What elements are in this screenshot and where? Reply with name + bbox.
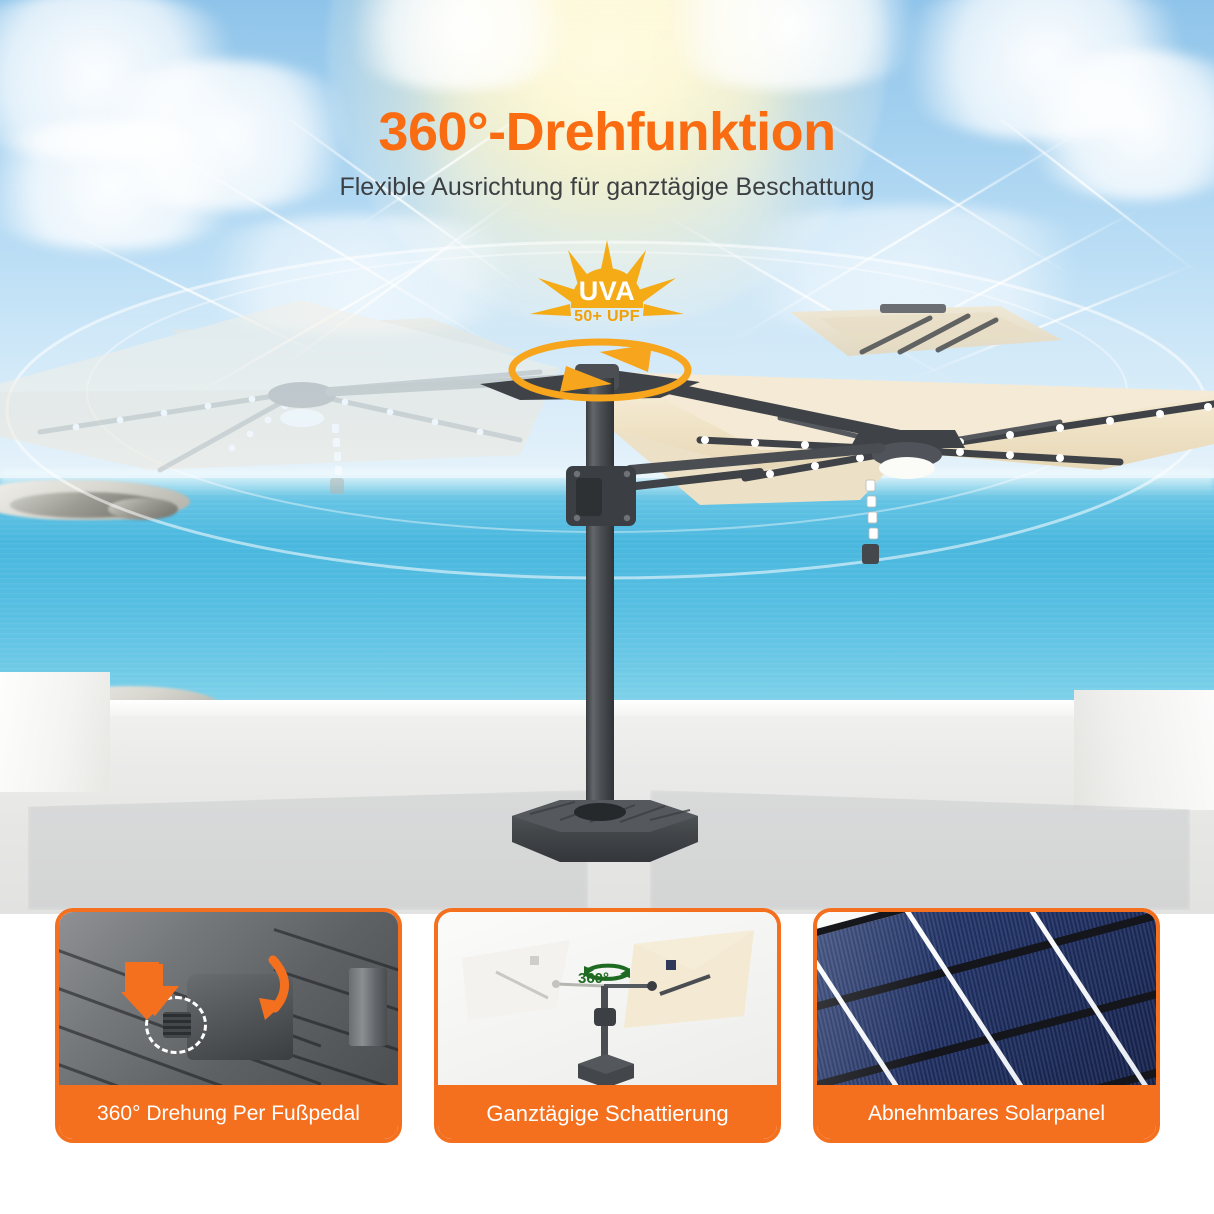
feature-cards: 360° Drehung Per Fußpedal <box>0 908 1214 1158</box>
ghost-canopy <box>462 940 570 1020</box>
card-caption-foot-pedal: 360° Drehung Per Fußpedal <box>55 1085 402 1143</box>
panel-glare <box>817 912 1156 1097</box>
uva-badge: UVA 50+ UPF <box>524 238 690 350</box>
feature-card-solar-panel[interactable]: Abnehmbares Solarpanel <box>813 908 1160 1143</box>
marketing-image: 360°-Drehfunktion Flexible Ausrichtung f… <box>0 0 1214 1214</box>
solar-panel-photo <box>817 912 1156 1097</box>
tilt-joint <box>566 466 636 526</box>
rotation-degree-badge: 360° <box>578 970 609 987</box>
rotation-topview-photo: 360° <box>438 912 777 1097</box>
upf-label: 50+ UPF <box>524 308 690 326</box>
card-caption-all-day-shade: Ganztägige Schattierung <box>434 1085 781 1143</box>
orange-arrow-down-simple <box>121 962 175 1020</box>
foot-pedal-photo <box>59 912 398 1097</box>
card-caption-solar-panel: Abnehmbares Solarpanel <box>813 1085 1160 1143</box>
page-subtitle: Flexible Ausrichtung für ganztägige Besc… <box>0 173 1214 202</box>
feature-card-all-day-shade[interactable]: 360° Ganztägige Schattierung <box>434 908 781 1143</box>
umbrella-base <box>512 800 698 862</box>
card1-annotations <box>59 912 398 1097</box>
headline-block: 360°-Drehfunktion Flexible Ausrichtung f… <box>0 104 1214 202</box>
orange-curved-arrow-icon <box>259 960 285 1020</box>
solar-panel <box>817 912 1156 1097</box>
uva-label: UVA <box>524 276 690 307</box>
topview-illustration <box>438 912 777 1097</box>
feature-card-foot-pedal[interactable]: 360° Drehung Per Fußpedal <box>55 908 402 1143</box>
page-title: 360°-Drehfunktion <box>0 104 1214 161</box>
bottom-white-margin <box>0 1158 1214 1214</box>
